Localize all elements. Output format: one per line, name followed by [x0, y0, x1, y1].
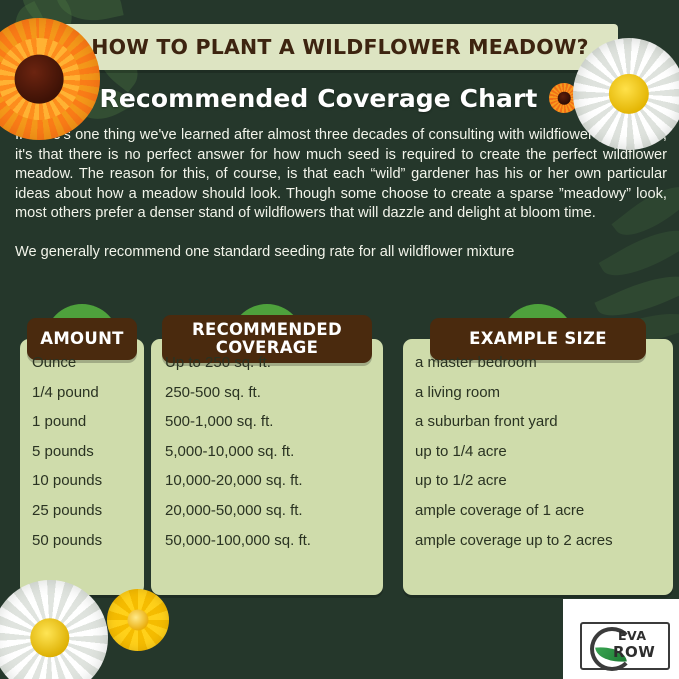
- orange-calendula-flower-icon: [0, 18, 100, 140]
- table-row: up to 1/2 acre: [415, 466, 673, 496]
- table-row: 5,000-10,000 sq. ft.: [165, 437, 383, 467]
- column-rows-amount: Ounce 1/4 pound 1 pound 5 pounds 10 poun…: [20, 300, 144, 555]
- coverage-chart: AMOUNT Ounce 1/4 pound 1 pound 5 pounds …: [0, 300, 679, 600]
- table-row: 10 pounds: [32, 466, 144, 496]
- table-row: up to 1/4 acre: [415, 437, 673, 467]
- table-row: 10,000-20,000 sq. ft.: [165, 466, 383, 496]
- table-row: 50,000-100,000 sq. ft.: [165, 526, 383, 556]
- column-rows-example-size: a master bedroom a living room a suburba…: [403, 300, 673, 555]
- table-row: ample coverage up to 2 acres: [415, 526, 673, 556]
- table-row: a living room: [415, 378, 673, 408]
- table-row: 1 pound: [32, 407, 144, 437]
- infographic-canvas: HOW TO PLANT A WILDFLOWER MEADOW? Recomm…: [0, 0, 679, 679]
- table-row: 250-500 sq. ft.: [165, 378, 383, 408]
- logo-text-eva: EVA: [618, 628, 647, 643]
- table-row: a master bedroom: [415, 348, 673, 378]
- table-row: 5 pounds: [32, 437, 144, 467]
- body-paragraph-2: We generally recommend one standard seed…: [15, 243, 667, 263]
- table-row: ample coverage of 1 acre: [415, 496, 673, 526]
- brand-logo: EVA ROW: [563, 599, 679, 679]
- page-subtitle: Recommended Coverage Chart: [100, 84, 538, 113]
- yellow-coreopsis-flower-icon: [107, 589, 169, 651]
- column-rows-recommended-coverage: Up to 250 sq. ft. 250-500 sq. ft. 500-1,…: [151, 300, 383, 555]
- column-recommended-coverage: RECOMMENDED COVERAGE Up to 250 sq. ft. 2…: [151, 300, 383, 363]
- page-title: HOW TO PLANT A WILDFLOWER MEADOW?: [91, 35, 589, 59]
- table-row: 25 pounds: [32, 496, 144, 526]
- table-row: 20,000-50,000 sq. ft.: [165, 496, 383, 526]
- title-banner: HOW TO PLANT A WILDFLOWER MEADOW?: [62, 24, 618, 70]
- table-row: a suburban front yard: [415, 407, 673, 437]
- table-row: 1/4 pound: [32, 378, 144, 408]
- logo-text-grow: ROW: [613, 643, 655, 661]
- white-daisy-flower-icon: [573, 38, 679, 150]
- table-row: Up to 250 sq. ft.: [165, 348, 383, 378]
- logo-mark: EVA ROW: [580, 622, 670, 670]
- table-row: 500-1,000 sq. ft.: [165, 407, 383, 437]
- column-example-size: EXAMPLE SIZE a master bedroom a living r…: [403, 300, 673, 360]
- table-row: Ounce: [32, 348, 144, 378]
- body-copy: If there's one thing we've learned after…: [15, 126, 667, 263]
- table-row: 50 pounds: [32, 526, 144, 556]
- body-paragraph-1: If there's one thing we've learned after…: [15, 126, 667, 224]
- column-amount: AMOUNT Ounce 1/4 pound 1 pound 5 pounds …: [20, 300, 144, 360]
- white-daisy-flower-bottom-icon: [0, 580, 108, 679]
